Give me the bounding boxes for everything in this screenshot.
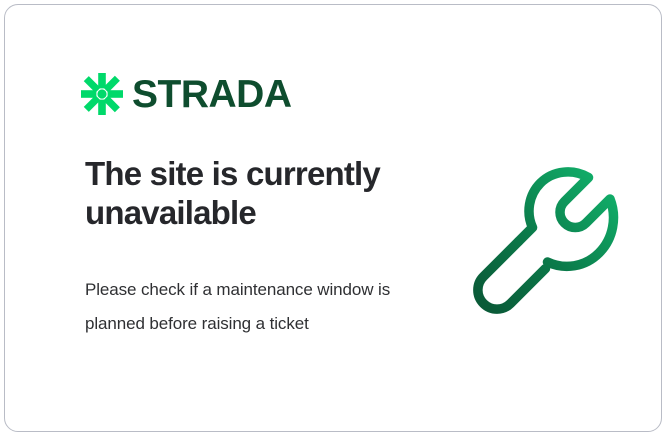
page-root: STRADA The site is currently unavailable… <box>0 0 666 436</box>
brand-wordmark: STRADA <box>132 75 292 114</box>
page-title: The site is currently unavailable <box>85 155 425 232</box>
page-description: Please check if a maintenance window is … <box>85 273 395 341</box>
wrench-icon <box>460 155 620 315</box>
brand-logo: STRADA <box>81 73 292 115</box>
strada-asterisk-icon <box>81 73 123 115</box>
status-card: STRADA The site is currently unavailable… <box>4 4 662 432</box>
